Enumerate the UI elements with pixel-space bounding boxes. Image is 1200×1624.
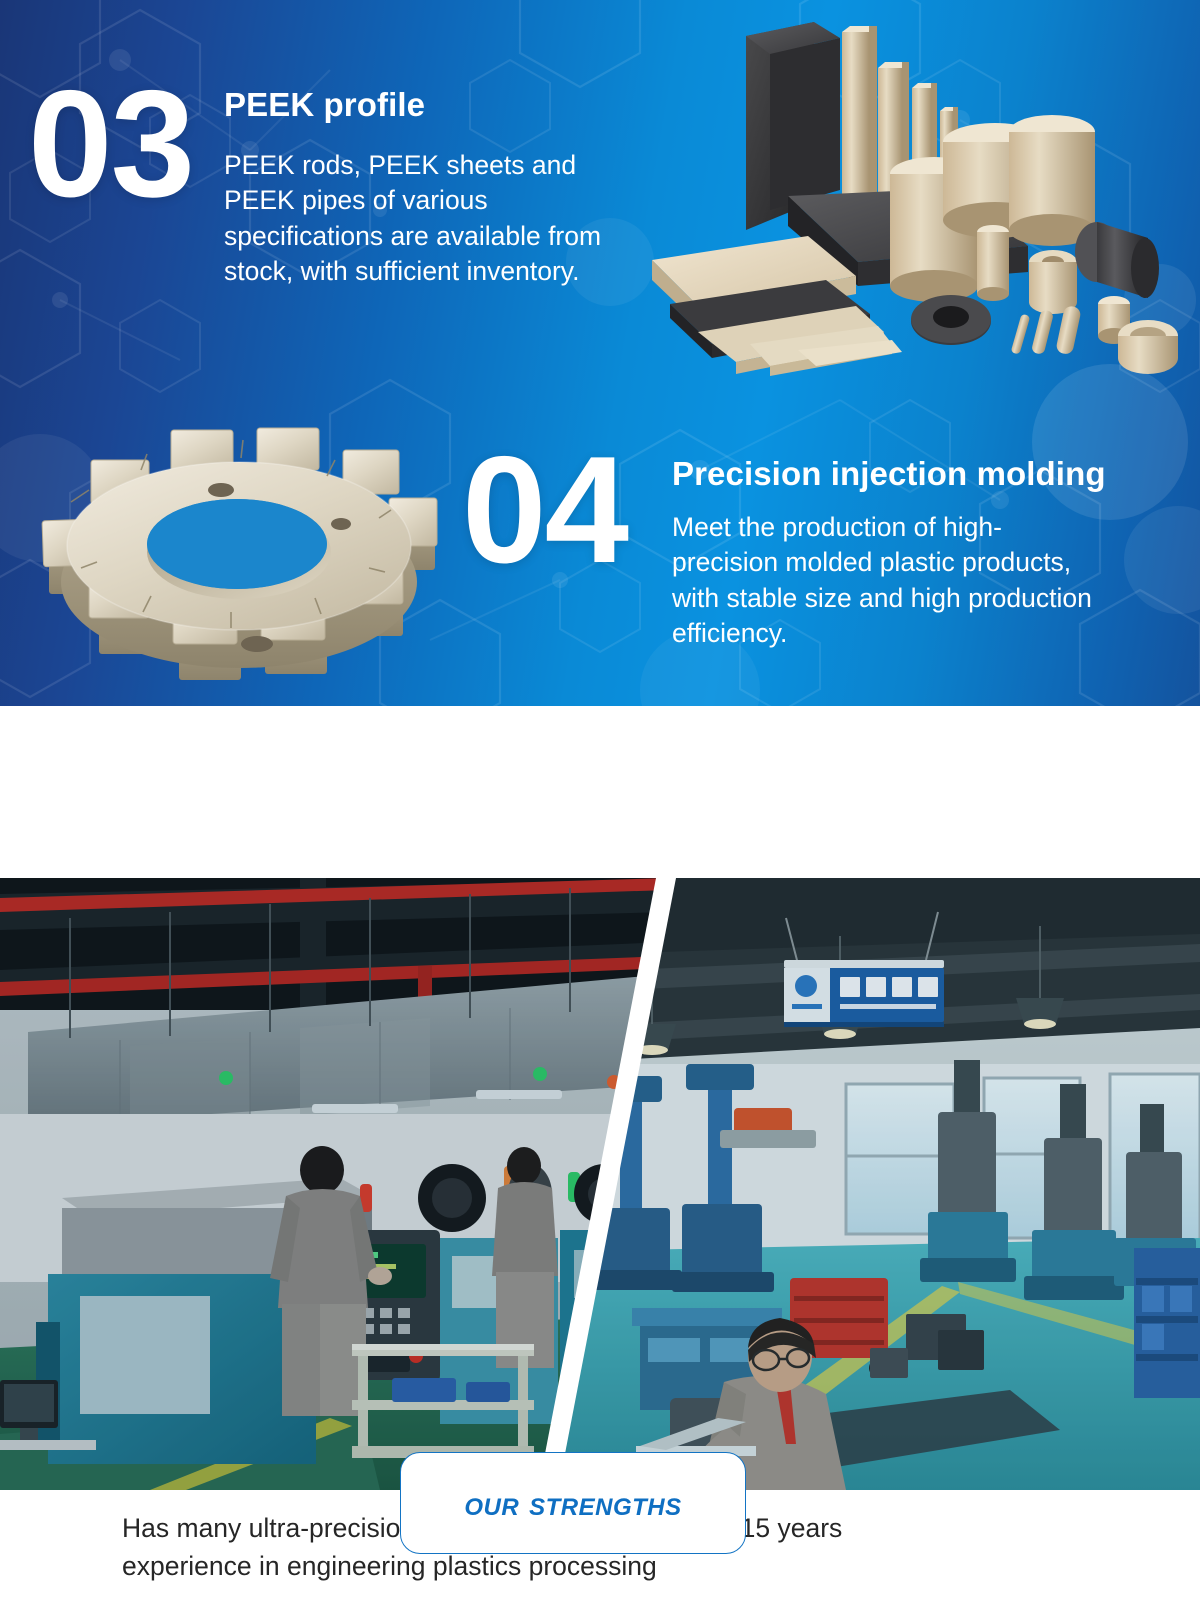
block-number-03: 03 <box>28 79 193 210</box>
peek-gear-ring-photo <box>26 396 456 684</box>
workshop-photo-gallery <box>0 878 1200 1490</box>
peek-products-photo <box>640 14 1200 386</box>
our-strengths-banner: Our strengths <box>0 706 1200 878</box>
peek-profile-description: PEEK rods, PEEK sheets and PEEK pipes of… <box>224 148 654 290</box>
block-number-04: 04 <box>462 445 627 576</box>
our-strengths-label: Our strengths <box>464 1485 681 1524</box>
hero-panel: 03 04 PEEK profile PEEK rods, PEEK sheet… <box>0 0 1200 706</box>
peek-profile-title: PEEK profile <box>224 86 425 124</box>
precision-injection-molding-title: Precision injection molding <box>672 455 1106 493</box>
our-strengths-box: Our strengths <box>400 1452 746 1554</box>
precision-injection-molding-description: Meet the production of high-precision mo… <box>672 510 1092 652</box>
